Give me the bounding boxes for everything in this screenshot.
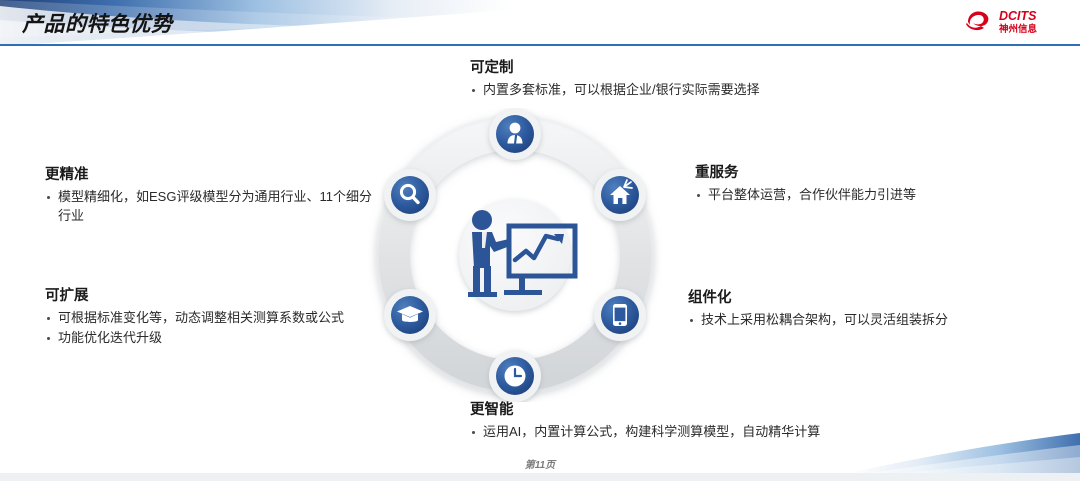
diagram-node-top[interactable] — [489, 108, 541, 160]
list-item: 模型精细化，如ESG评级模型分为通用行业、11个细分行业 — [45, 188, 380, 225]
logo-swirl-icon — [966, 11, 988, 30]
feature-bullet-list: 平台整体运营，合作伙伴能力引进等 — [695, 186, 1065, 204]
feature-bullet-list: 内置多套标准，可以根据企业/银行实际需要选择 — [470, 81, 900, 99]
logo-subtext: 神州信息 — [999, 23, 1038, 35]
feature-block-extensible: 可扩展 可根据标准变化等，动态调整相关测算系数或公式 功能优化迭代升级 — [45, 288, 380, 348]
dcits-logo: DCITS 神州信息 — [962, 6, 1070, 36]
smartphone-icon — [613, 304, 627, 326]
feature-block-accurate: 更精准 模型精细化，如ESG评级模型分为通用行业、11个细分行业 — [45, 167, 380, 226]
feature-block-customizable: 可定制 内置多套标准，可以根据企业/银行实际需要选择 — [470, 60, 900, 101]
feature-bullet-list: 技术上采用松耦合架构，可以灵活组装拆分 — [688, 311, 1068, 329]
diagram-center — [459, 199, 575, 311]
hub-and-spoke-diagram — [368, 108, 662, 402]
feature-title: 可扩展 — [45, 288, 380, 305]
diagram-node-upper-left[interactable] — [384, 169, 436, 221]
diagram-node-bottom[interactable] — [489, 350, 541, 402]
logo-wordmark: DCITS — [999, 9, 1037, 23]
feature-bullet-list: 模型精细化，如ESG评级模型分为通用行业、11个细分行业 — [45, 188, 380, 225]
slide: 产品的特色优势 DCITS 神州信息 可定制 内置多套标准，可以根据企业/银行实… — [0, 0, 1080, 481]
list-item: 内置多套标准，可以根据企业/银行实际需要选择 — [470, 81, 900, 99]
feature-title: 更精准 — [45, 167, 380, 184]
feature-block-service: 重服务 平台整体运营，合作伙伴能力引进等 — [695, 165, 1065, 206]
feature-bullet-list: 可根据标准变化等，动态调整相关测算系数或公式 功能优化迭代升级 — [45, 309, 380, 347]
feature-title: 组件化 — [688, 290, 1068, 307]
footer-divider — [0, 473, 1080, 481]
list-item: 功能优化迭代升级 — [45, 329, 380, 347]
feature-title: 重服务 — [695, 165, 1065, 182]
slide-header: 产品的特色优势 DCITS 神州信息 — [0, 0, 1080, 46]
list-item: 技术上采用松耦合架构，可以灵活组装拆分 — [688, 311, 1068, 329]
clock-icon — [505, 366, 526, 387]
diagram-node-lower-right[interactable] — [594, 289, 646, 341]
diagram-node-lower-left[interactable] — [384, 289, 436, 341]
list-item: 可根据标准变化等，动态调整相关测算系数或公式 — [45, 309, 380, 327]
feature-title: 可定制 — [470, 60, 900, 77]
list-item: 平台整体运营，合作伙伴能力引进等 — [695, 186, 1065, 204]
diagram-node-upper-right[interactable] — [594, 169, 646, 221]
header-divider — [0, 44, 1080, 46]
page-number: 第11页 — [0, 456, 1080, 471]
feature-title: 更智能 — [470, 402, 930, 419]
page-title: 产品的特色优势 — [22, 8, 173, 38]
feature-block-component: 组件化 技术上采用松耦合架构，可以灵活组装拆分 — [688, 290, 1068, 331]
